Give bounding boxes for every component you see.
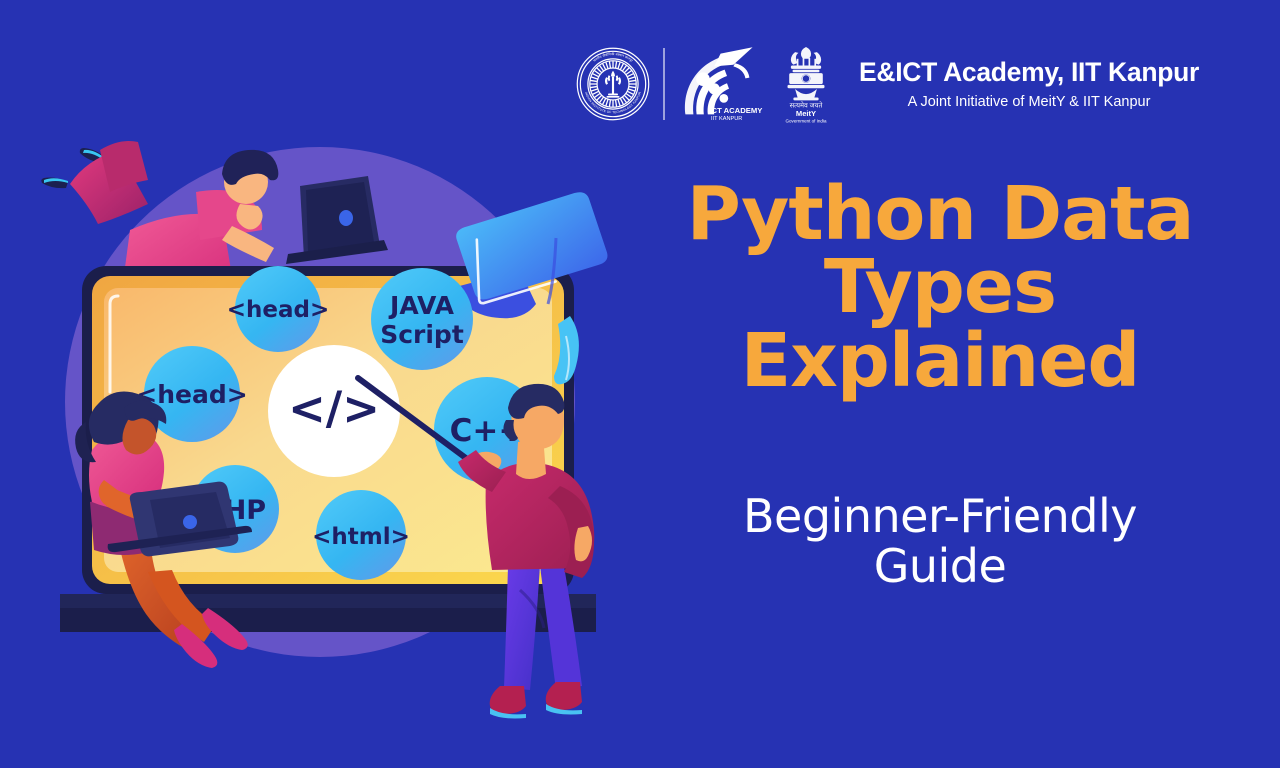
brand-subtitle: A Joint Initiative of MeitY & IIT Kanpur — [859, 94, 1199, 110]
code-tag-bubble[interactable]: </> — [268, 345, 400, 477]
subhead-line-1: Beginner-Friendly — [640, 492, 1240, 542]
brand-text-block: E&ICT Academy, IIT Kanpur A Joint Initia… — [859, 58, 1199, 109]
headline-line-2: Types — [640, 251, 1240, 324]
headline-line-1: Python Data — [640, 178, 1240, 251]
ict-academy-logo-icon: ICT ACADEMY IIT KANPUR — [679, 44, 767, 124]
svg-text:Government of India: Government of India — [786, 119, 827, 124]
hero-illustration: <head> JAVA Script <head> C++ PHP <html>… — [0, 120, 640, 768]
brand-title: E&ICT Academy, IIT Kanpur — [859, 58, 1199, 87]
meity-emblem-icon: सत्यमेव जयते MeitY Government of India — [775, 42, 837, 126]
brand-header: भारतीय प्रौद्योगिकी संस्थान कानपुर INDIA… — [575, 38, 1240, 130]
bubble-javascript[interactable]: JAVA Script — [371, 268, 473, 370]
svg-text:ICT ACADEMY: ICT ACADEMY — [709, 106, 762, 115]
headline-line-3: Explained — [640, 325, 1240, 398]
code-tag-icon: </> — [288, 382, 380, 435]
illustration-canvas: <head> JAVA Script <head> C++ PHP <html>… — [0, 120, 640, 768]
svg-text:MeitY: MeitY — [796, 109, 816, 118]
hero-subheadline: Beginner-Friendly Guide — [640, 492, 1240, 591]
logo-divider — [663, 48, 665, 120]
bubble-label: <head> — [227, 297, 330, 323]
bubble-label-line1: JAVA — [388, 291, 455, 320]
bubble-label: <html> — [312, 524, 410, 550]
subhead-line-2: Guide — [640, 542, 1240, 592]
hero-headline: Python Data Types Explained — [640, 178, 1240, 398]
bubble-label-line2: Script — [380, 320, 464, 349]
iit-kanpur-seal-icon: भारतीय प्रौद्योगिकी संस्थान कानपुर INDIA… — [575, 46, 651, 122]
svg-text:IIT KANPUR: IIT KANPUR — [711, 116, 742, 122]
